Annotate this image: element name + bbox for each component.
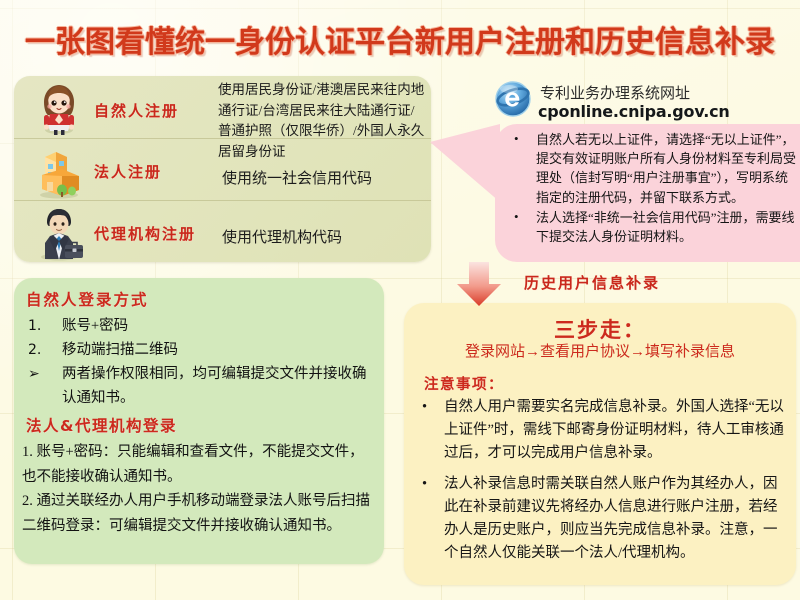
legal-login-item: 2. 通过关联经办人用户手机移动端登录法人账号后扫描二维码登录：可编辑提交文件并… [22, 489, 378, 538]
bullet-icon: • [514, 129, 519, 148]
bullet-icon: • [514, 207, 519, 226]
registration-desc-legal-entity: 使用统一社会信用代码 [222, 167, 372, 188]
registration-desc-agency: 使用代理机构代码 [222, 226, 342, 247]
natural-person-login-list: 1. 账号+密码 2. 移动端扫描二维码 ➢ 两者操作权限相同，均可编辑提交文件… [26, 314, 374, 410]
history-notes-list: • 自然人用户需要实名完成信息补录。外国人选择“无以上证件”时，需线下邮寄身份证… [412, 396, 790, 573]
building-icon [32, 143, 86, 199]
natural-person-login-heading: 自然人登录方式 [26, 288, 149, 310]
natural-login-item: 2. 移动端扫描二维码 [26, 338, 374, 362]
down-arrow-icon [455, 262, 503, 306]
pink-note-item: • 法人选择“非统一社会信用代码”注册，需要线下提交法人身份证明材料。 [500, 208, 800, 246]
history-note-text: 法人补录信息时需关联自然人账户作为其经办人，因此在补录前建议先将经办人信息进行账… [444, 476, 778, 561]
list-marker: 2. [28, 338, 41, 362]
bullet-icon: • [422, 473, 427, 496]
steps-flow-text: 登录网站→查看用户协议→填写补录信息 [404, 340, 796, 361]
page-title: 一张图看懂统一身份认证平台新用户注册和历史信息补录 [0, 23, 800, 63]
notes-heading: 注意事项： [424, 373, 504, 394]
natural-login-text: 移动端扫描二维码 [62, 342, 178, 358]
natural-login-item: ➢ 两者操作权限相同，均可编辑提交文件并接收确认通知书。 [26, 362, 374, 410]
history-note-item: • 法人补录信息时需关联自然人账户作为其经办人，因此在补录前建议先将经办人信息进… [412, 473, 790, 565]
natural-login-text: 账号+密码 [62, 318, 128, 334]
pink-note-item: • 自然人若无以上证件，请选择“无以上证件”，提交有效证明账户所有人身份材料至专… [500, 130, 800, 207]
infographic-canvas: 一张图看懂统一身份认证平台新用户注册和历史信息补录 [0, 0, 800, 600]
history-section-heading: 历史用户信息补录 [524, 272, 660, 293]
natural-login-text: 两者操作权限相同，均可编辑提交文件并接收确认通知书。 [62, 366, 367, 406]
history-note-item: • 自然人用户需要实名完成信息补录。外国人选择“无以上证件”时，需线下邮寄身份证… [412, 396, 790, 465]
history-note-text: 自然人用户需要实名完成信息补录。外国人选择“无以上证件”时，需线下邮寄身份证明材… [444, 399, 784, 461]
site-url[interactable]: cponline.cnipa.gov.cn [538, 102, 730, 121]
legal-login-item: 1. 账号+密码：只能编辑和查看文件，不能提交文件，也不能接收确认通知书。 [22, 440, 378, 489]
internet-explorer-icon [494, 80, 532, 118]
bullet-icon: • [422, 396, 427, 419]
arrow-bullet-icon: ➢ [28, 362, 40, 386]
legal-agency-login-heading: 法人&代理机构登录 [26, 414, 177, 436]
businessman-icon [32, 205, 86, 261]
pink-note-text: 自然人若无以上证件，请选择“无以上证件”，提交有效证明账户所有人身份材料至专利局… [536, 132, 796, 205]
site-label: 专利业务办理系统网址 [540, 82, 690, 103]
pink-notes-list: • 自然人若无以上证件，请选择“无以上证件”，提交有效证明账户所有人身份材料至专… [500, 130, 800, 247]
list-marker: 1. [28, 314, 41, 338]
girl-avatar-icon [32, 80, 86, 136]
natural-login-item: 1. 账号+密码 [26, 314, 374, 338]
registration-desc-natural-person: 使用居民身份证/港澳居民来往内地通行证/台湾居民来往大陆通行证/普通护照（仅限华… [218, 80, 426, 162]
pink-note-text: 法人选择“非统一社会信用代码”注册，需要线下提交法人身份证明材料。 [536, 210, 795, 244]
pink-callout-tail [430, 124, 500, 204]
legal-agency-login-list: 1. 账号+密码：只能编辑和查看文件，不能提交文件，也不能接收确认通知书。 2.… [22, 440, 378, 538]
